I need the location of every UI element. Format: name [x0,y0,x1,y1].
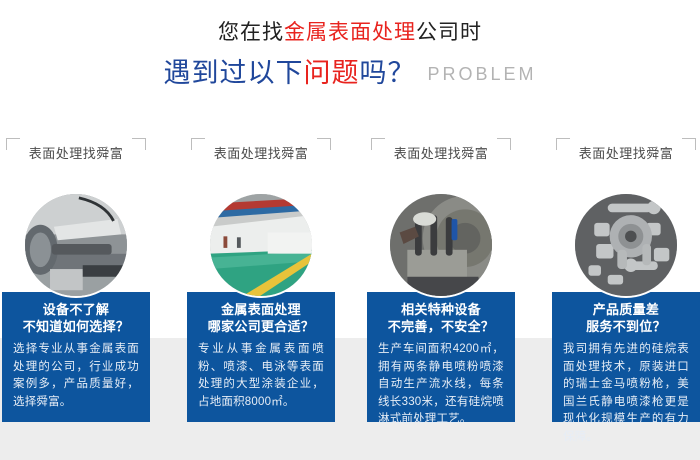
card-title: 相关特种设备 不完善，不安全？ [373,301,509,335]
heading-line1-highlight: 金属表面处理 [284,21,416,44]
heading-line-2: 遇到过以下问题吗？PROBLEM [0,54,700,93]
card-title-line-1: 金属表面处理 [193,301,329,318]
card-body-text: 选择专业从事金属表面处理的公司，行业成功案例多，产品质量好，选择舜富。 [13,341,139,411]
heading-english-label: PROBLEM [427,64,536,84]
heading-line1-prefix: 您在找 [218,21,284,44]
card-photo [573,192,679,298]
card-body-text: 生产车间面积4200㎡，拥有两条静电喷粉喷漆自动生产流水线，每条线长330米，还… [378,341,504,429]
card-label-text: 表面处理找舜富 [191,145,331,163]
card-body-text: 我司拥有先进的硅烷表面处理技术，原装进口的瑞士金马喷粉枪，美国兰氏静电喷漆枪更是… [563,341,689,446]
card-photo [208,192,314,298]
heading-line2-prefix: 遇到过以下 [163,58,303,88]
card-title-line-1: 相关特种设备 [373,301,509,318]
heading-line2-suffix: 吗？ [359,58,415,88]
card-photo [23,192,129,298]
card-title-line-2: 不完善，不安全？ [373,318,509,335]
problem-card[interactable]: 表面处理找舜富 [552,130,700,430]
heading-line1-suffix: 公司时 [416,21,482,44]
card-title: 产品质量差 服务不到位？ [558,301,694,335]
card-bracket-label: 表面处理找舜富 [6,138,146,168]
problem-card[interactable]: 表面处理找舜富 相关特种设备 不完善，不安全？ 生产车间面积42 [367,130,515,430]
page-heading: 您在找金属表面处理公司时 遇到过以下问题吗？PROBLEM [0,18,700,93]
card-title: 金属表面处理 哪家公司更合适？ [193,301,329,335]
card-bracket-label: 表面处理找舜富 [556,138,696,168]
card-label-text: 表面处理找舜富 [371,145,511,163]
heading-line-1: 您在找金属表面处理公司时 [0,18,700,48]
heading-line2-highlight: 问题 [303,58,359,88]
card-body-text: 专业从事金属表面喷粉、喷漆、电泳等表面处理的大型涂装企业，占地面积8000㎡。 [198,341,324,411]
problem-card[interactable]: 表面处理找舜富 设备不了解 不知道如何选择？ 选择专业从事金属表 [2,130,150,430]
card-title-line-1: 产品质量差 [558,301,694,318]
problem-card-list: 表面处理找舜富 设备不了解 不知道如何选择？ 选择专业从事金属表 [0,130,700,430]
card-title: 设备不了解 不知道如何选择？ [8,301,144,335]
card-bracket-label: 表面处理找舜富 [371,138,511,168]
card-label-text: 表面处理找舜富 [6,145,146,163]
card-photo [388,192,494,298]
card-label-text: 表面处理找舜富 [556,145,696,163]
card-title-line-2: 不知道如何选择？ [8,318,144,335]
card-bracket-label: 表面处理找舜富 [191,138,331,168]
card-title-line-1: 设备不了解 [8,301,144,318]
card-title-line-2: 服务不到位？ [558,318,694,335]
problem-card[interactable]: 表面处理找舜富 金属表面处理 哪家公司更合适？ 专业从事金属表面 [187,130,335,430]
card-title-line-2: 哪家公司更合适？ [193,318,329,335]
